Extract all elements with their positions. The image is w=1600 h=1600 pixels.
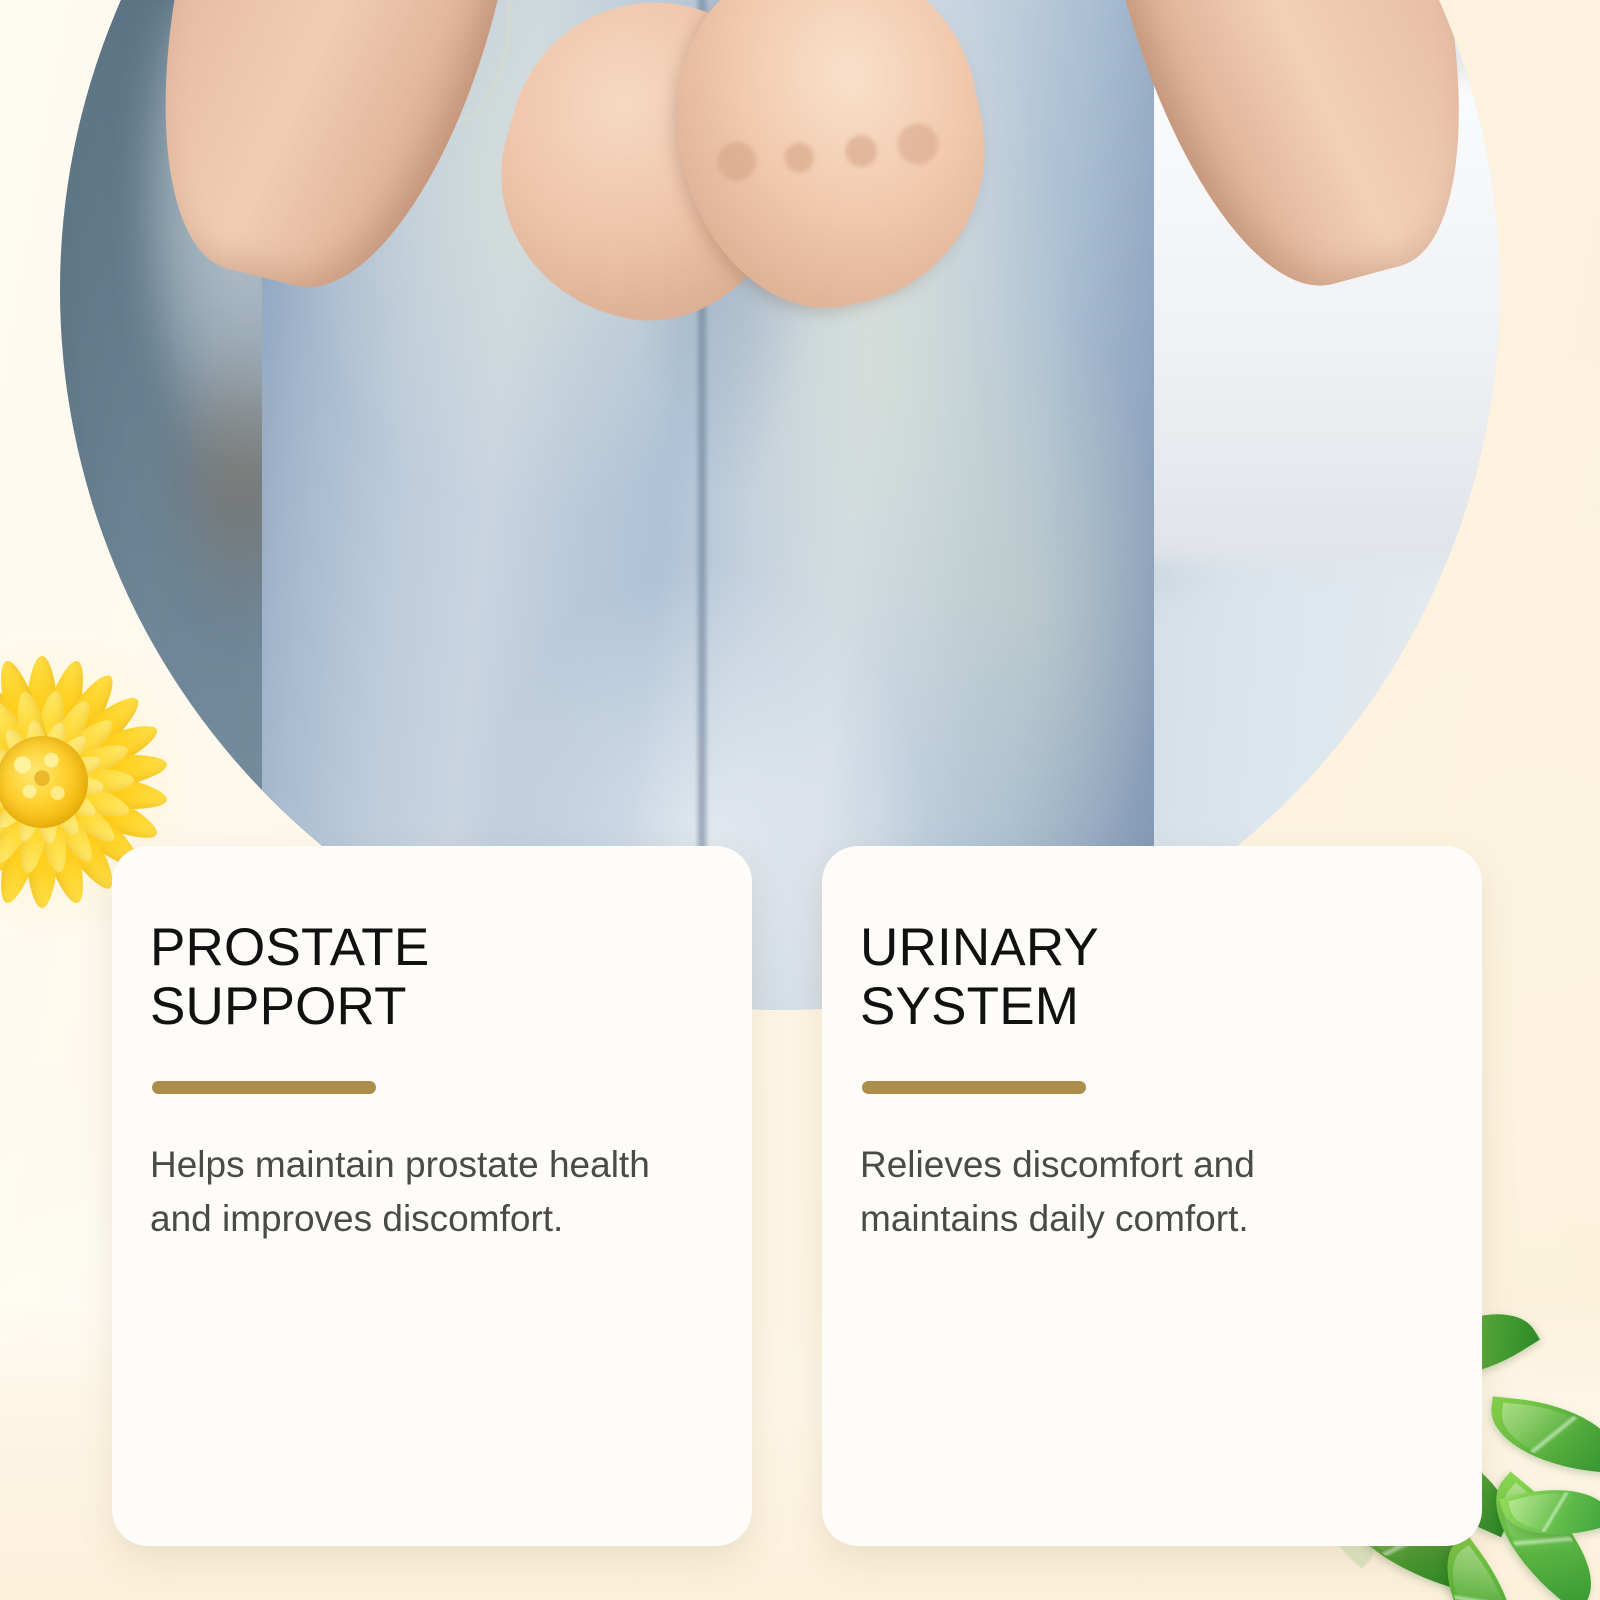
- promo-banner: PROSTATE SUPPORT Helps maintain prostate…: [0, 0, 1600, 1600]
- card-prostate-support[interactable]: PROSTATE SUPPORT Helps maintain prostate…: [112, 846, 752, 1546]
- flower-core-detail: [3, 743, 81, 821]
- accent-rule: [152, 1081, 376, 1094]
- card-title: URINARY SYSTEM: [860, 918, 1424, 1037]
- card-body: Relieves discomfort and maintains daily …: [860, 1138, 1380, 1248]
- tea-leaf: [1486, 1396, 1600, 1473]
- accent-rule: [862, 1081, 1086, 1094]
- card-urinary-system[interactable]: URINARY SYSTEM Relieves discomfort and m…: [822, 846, 1482, 1546]
- leaf-vein: [1492, 1399, 1600, 1470]
- card-body: Helps maintain prostate health and impro…: [150, 1138, 670, 1248]
- card-title: PROSTATE SUPPORT: [150, 918, 694, 1037]
